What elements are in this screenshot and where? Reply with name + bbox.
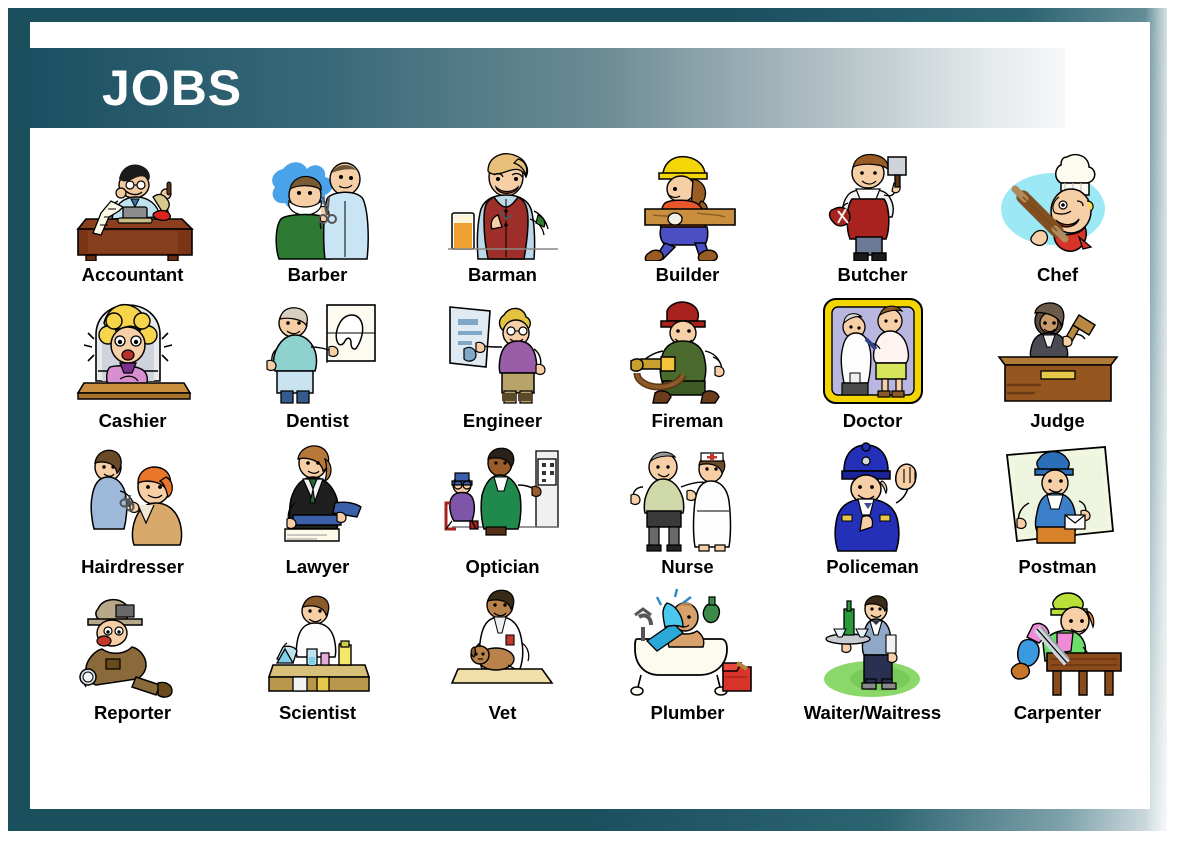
job-label: Dentist — [286, 410, 349, 432]
job-label: Waiter/Waitress — [804, 702, 941, 724]
job-label: Butcher — [838, 264, 908, 286]
job-label: Postman — [1018, 556, 1096, 578]
job-label: Nurse — [661, 556, 713, 578]
carpenter-illustration — [993, 587, 1123, 699]
vet-illustration — [438, 587, 568, 699]
optician-illustration — [438, 441, 568, 553]
job-card-dentist[interactable]: Dentist — [225, 286, 410, 432]
job-card-vet[interactable]: Vet — [410, 578, 595, 724]
job-card-nurse[interactable]: Nurse — [595, 432, 780, 578]
butcher-illustration — [808, 149, 938, 261]
job-card-reporter[interactable]: Reporter — [40, 578, 225, 724]
policeman-illustration — [808, 441, 938, 553]
job-label: Barman — [468, 264, 537, 286]
cashier-illustration — [68, 295, 198, 407]
job-card-cashier[interactable]: Cashier — [40, 286, 225, 432]
job-label: Hairdresser — [81, 556, 184, 578]
job-card-doctor[interactable]: Doctor — [780, 286, 965, 432]
job-card-barber[interactable]: Barber — [225, 140, 410, 286]
job-card-accountant[interactable]: Accountant — [40, 140, 225, 286]
chef-illustration — [993, 149, 1123, 261]
waiter-waitress-illustration — [808, 587, 938, 699]
job-label: Builder — [656, 264, 720, 286]
job-card-judge[interactable]: Judge — [965, 286, 1150, 432]
job-label: Policeman — [826, 556, 919, 578]
jobs-vocabulary-poster: JOBS — [0, 0, 1189, 841]
job-label: Fireman — [652, 410, 724, 432]
job-card-postman[interactable]: Postman — [965, 432, 1150, 578]
job-card-fireman[interactable]: Fireman — [595, 286, 780, 432]
job-card-barman[interactable]: Barman — [410, 140, 595, 286]
job-card-builder[interactable]: Builder — [595, 140, 780, 286]
job-card-butcher[interactable]: Butcher — [780, 140, 965, 286]
title-banner: JOBS — [30, 48, 1065, 128]
job-label: Optician — [465, 556, 539, 578]
job-card-waiter-waitress[interactable]: Waiter/Waitress — [780, 578, 965, 724]
jobs-grid: Accountant — [40, 140, 1150, 724]
barber-illustration — [253, 149, 383, 261]
plumber-illustration — [623, 587, 753, 699]
doctor-illustration — [808, 295, 938, 407]
job-label: Plumber — [650, 702, 724, 724]
job-card-hairdresser[interactable]: Hairdresser — [40, 432, 225, 578]
job-label: Chef — [1037, 264, 1078, 286]
right-edge-fade — [1145, 0, 1189, 841]
barman-illustration — [438, 149, 568, 261]
job-label: Vet — [489, 702, 517, 724]
job-card-policeman[interactable]: Policeman — [780, 432, 965, 578]
job-card-lawyer[interactable]: Lawyer — [225, 432, 410, 578]
job-card-carpenter[interactable]: Carpenter — [965, 578, 1150, 724]
lawyer-illustration — [253, 441, 383, 553]
job-label: Carpenter — [1014, 702, 1101, 724]
job-label: Judge — [1030, 410, 1084, 432]
fireman-illustration — [623, 295, 753, 407]
page-title: JOBS — [102, 63, 242, 113]
job-label: Lawyer — [286, 556, 350, 578]
job-card-engineer[interactable]: Engineer — [410, 286, 595, 432]
job-label: Engineer — [463, 410, 542, 432]
nurse-illustration — [623, 441, 753, 553]
reporter-illustration — [68, 587, 198, 699]
job-card-plumber[interactable]: Plumber — [595, 578, 780, 724]
builder-illustration — [623, 149, 753, 261]
dentist-illustration — [253, 295, 383, 407]
scientist-illustration — [253, 587, 383, 699]
job-label: Cashier — [99, 410, 167, 432]
job-label: Barber — [288, 264, 348, 286]
job-label: Reporter — [94, 702, 171, 724]
job-card-scientist[interactable]: Scientist — [225, 578, 410, 724]
job-label: Accountant — [82, 264, 184, 286]
engineer-illustration — [438, 295, 568, 407]
judge-illustration — [993, 295, 1123, 407]
postman-illustration — [993, 441, 1123, 553]
job-label: Scientist — [279, 702, 356, 724]
accountant-illustration — [68, 149, 198, 261]
job-card-chef[interactable]: Chef — [965, 140, 1150, 286]
hairdresser-illustration — [68, 441, 198, 553]
job-card-optician[interactable]: Optician — [410, 432, 595, 578]
job-label: Doctor — [843, 410, 903, 432]
